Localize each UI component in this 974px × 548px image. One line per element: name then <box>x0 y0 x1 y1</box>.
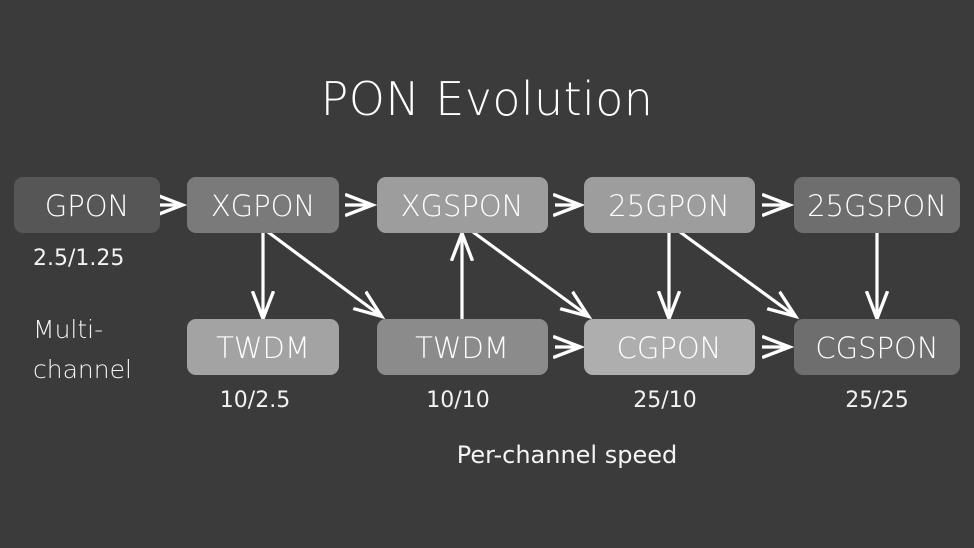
speed-label-cgspon: 25/25 <box>845 388 908 413</box>
node-25gspon-label: 25GSPON <box>807 189 947 223</box>
pon-evolution-diagram: PON Evolution GPON XGPON XG <box>0 0 974 548</box>
speed-label-twdm2: 10/10 <box>426 388 489 413</box>
node-xgpon[interactable]: XGPON <box>187 177 339 233</box>
edge-xgspon-to-cgpon <box>473 232 588 316</box>
node-xgpon-label: XGPON <box>211 189 315 223</box>
node-xgspon[interactable]: XGSPON <box>377 177 548 233</box>
speed-label-twdm1: 10/2.5 <box>220 388 290 413</box>
node-gpon-label: GPON <box>45 189 129 223</box>
node-twdm2[interactable]: TWDM <box>377 319 548 375</box>
node-cgpon[interactable]: CGPON <box>584 319 755 375</box>
edge-25gpon-to-cgspon <box>680 232 795 316</box>
node-twdm1-label: TWDM <box>216 331 310 365</box>
node-25gpon[interactable]: 25GPON <box>584 177 755 233</box>
node-25gspon[interactable]: 25GSPON <box>794 177 960 233</box>
node-twdm1[interactable]: TWDM <box>187 319 339 375</box>
page-title: PON Evolution <box>321 72 654 126</box>
row-label-multi-line1: Multi- <box>33 315 103 344</box>
node-cgpon-label: CGPON <box>617 331 722 365</box>
node-cgspon-label: CGSPON <box>815 331 938 365</box>
speed-label-gpon: 2.5/1.25 <box>33 246 124 271</box>
row-label-multi-line2: channel <box>33 355 132 384</box>
speed-label-cgpon: 25/10 <box>633 388 696 413</box>
diagram-caption: Per-channel speed <box>457 441 677 469</box>
node-25gpon-label: 25GPON <box>608 189 729 223</box>
diagram-canvas: PON Evolution GPON XGPON XG <box>0 0 974 548</box>
node-cgspon[interactable]: CGSPON <box>794 319 960 375</box>
node-xgspon-label: XGSPON <box>401 189 524 223</box>
edge-xgpon-to-twdm2 <box>268 232 381 316</box>
node-gpon[interactable]: GPON <box>14 177 160 233</box>
node-twdm2-label: TWDM <box>415 331 509 365</box>
